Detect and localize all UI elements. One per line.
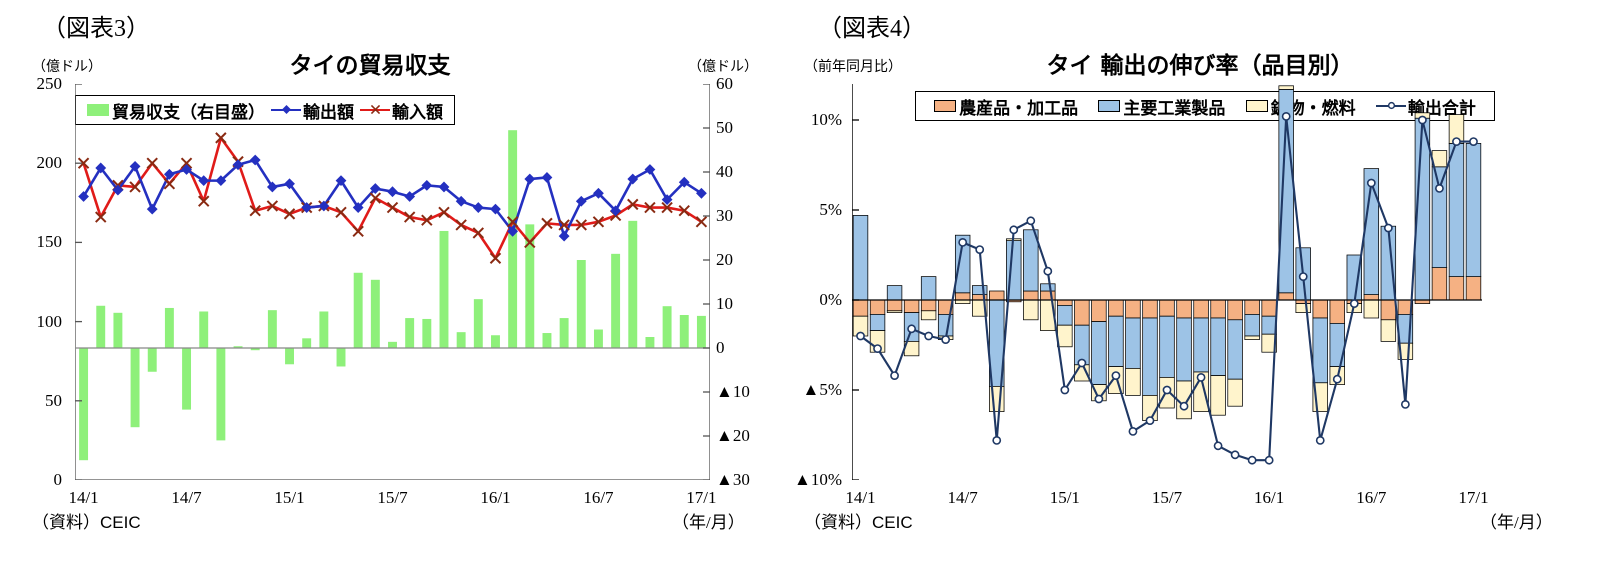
figure3-plot-area: [75, 84, 710, 480]
figure3-xtick: 16/7: [583, 488, 613, 508]
figure4-plot-area: [852, 84, 1482, 480]
figure3-y2tick: 10: [716, 294, 733, 314]
figure4-xaxis-unit: （年/月）: [1480, 508, 1553, 533]
figure3-ytick: 0: [20, 470, 62, 490]
figure4-left-unit: （前年同月比）: [804, 56, 902, 76]
figure3-title: タイの貿易収支: [180, 46, 560, 80]
figure4-source: （資料）CEIC: [804, 508, 913, 533]
figure4-xtick: 17/1: [1458, 488, 1488, 508]
figure3-y2tick: 30: [716, 206, 733, 226]
figure4-xtick: 16/7: [1356, 488, 1386, 508]
figure3-panel: （図表3） タイの貿易収支 （億ドル） （億ドル） 貿易収支（右目盛） 輸出額: [0, 0, 790, 561]
figure4-label: （図表4）: [818, 8, 926, 43]
figure3-ytick: 50: [20, 391, 62, 411]
figure4-ytick: 5%: [790, 200, 842, 220]
figure4-ytick: 0%: [790, 290, 842, 310]
figure3-y2tick: 40: [716, 162, 733, 182]
figure4-xtick: 15/7: [1152, 488, 1182, 508]
figure3-label: （図表3）: [42, 8, 150, 43]
figure3-xtick: 15/1: [274, 488, 304, 508]
figure3-y2tick: 20: [716, 250, 733, 270]
figure4-panel: （図表4） タイ 輸出の伸び率（品目別） （前年同月比） 農産品・加工品 主要工…: [790, 0, 1597, 561]
figure4-ytick: ▲10%: [790, 470, 842, 490]
figure4-ytick: ▲5%: [790, 380, 842, 400]
figure4-title: タイ 輸出の伸び率（品目別）: [990, 46, 1410, 80]
figure3-y2tick: 60: [716, 74, 733, 94]
figure3-xtick: 15/7: [377, 488, 407, 508]
figure3-xaxis-unit: （年/月）: [672, 508, 745, 533]
figure3-y2tick: ▲10: [716, 382, 750, 402]
figure3-right-unit: （億ドル）: [688, 56, 758, 76]
figure3-xtick: 17/1: [686, 488, 716, 508]
figure3-y2tick: ▲20: [716, 426, 750, 446]
figure3-ytick: 200: [20, 153, 62, 173]
figure3-ytick: 250: [20, 74, 62, 94]
figure3-y2tick: 0: [716, 338, 725, 358]
figure3-y2tick: 50: [716, 118, 733, 138]
figure3-left-unit: （億ドル）: [32, 56, 102, 76]
figure3-xtick: 16/1: [480, 488, 510, 508]
figure4-xtick: 14/1: [845, 488, 875, 508]
figure3-ytick: 150: [20, 232, 62, 252]
figure3-source: （資料）CEIC: [32, 508, 141, 533]
figure3-y2tick: ▲30: [716, 470, 750, 490]
figure4-xtick: 14/7: [948, 488, 978, 508]
figure3-ytick: 100: [20, 312, 62, 332]
figure4-xtick: 16/1: [1254, 488, 1284, 508]
page-root: （図表3） タイの貿易収支 （億ドル） （億ドル） 貿易収支（右目盛） 輸出額: [0, 0, 1597, 561]
figure4-ytick: 10%: [790, 110, 842, 130]
figure3-xtick: 14/1: [68, 488, 98, 508]
figure3-xtick: 14/7: [171, 488, 201, 508]
figure4-xtick: 15/1: [1050, 488, 1080, 508]
